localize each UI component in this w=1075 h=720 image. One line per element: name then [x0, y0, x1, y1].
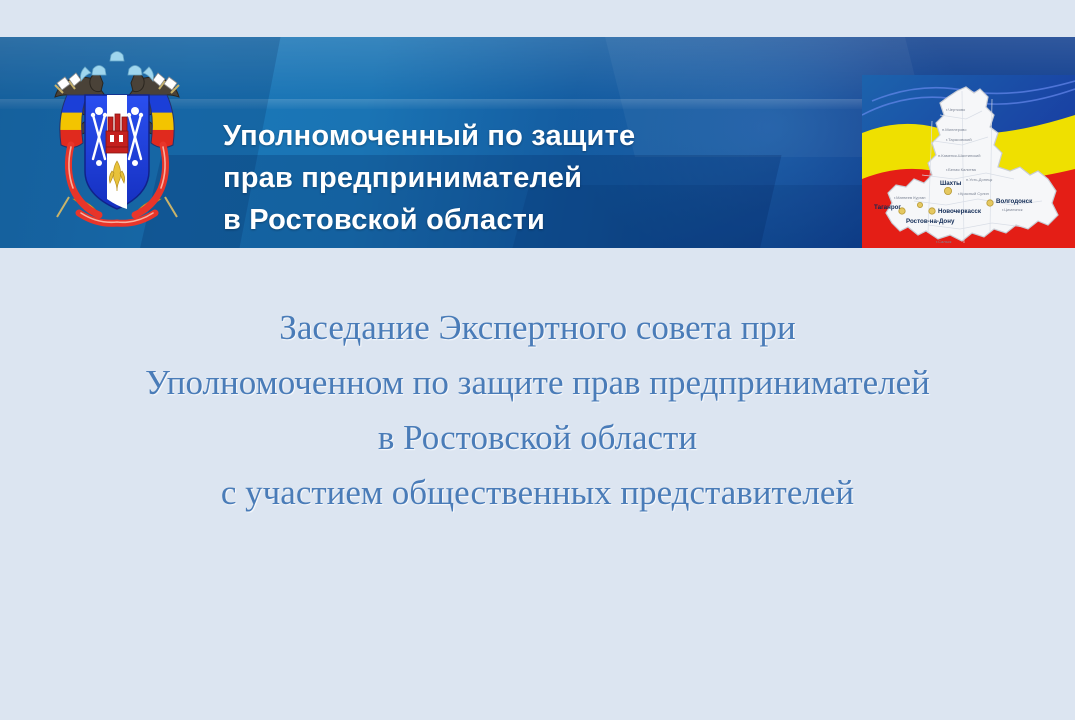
svg-text:г.Матвеев Курган: г.Матвеев Курган [894, 195, 926, 200]
header-banner: Уполномоченный по защите прав предприним… [0, 37, 1075, 248]
svg-text:г.Белая Калитва: г.Белая Калитва [946, 167, 977, 172]
svg-text:п.Усть-Донецк: п.Усть-Донецк [966, 177, 993, 182]
map-label-shahty: Шахты [940, 180, 961, 187]
title-line-3: в Ростовской области [0, 410, 1075, 465]
slide-title: Заседание Экспертного совета при Уполном… [0, 300, 1075, 520]
svg-text:г.Цимлянск: г.Цимлянск [1002, 207, 1023, 212]
svg-text:п.Каменск-Шахтинский: п.Каменск-Шахтинский [938, 153, 980, 158]
header-line-1: Уполномоченный по защите [223, 115, 863, 157]
title-line-1: Заседание Экспертного совета при [0, 300, 1075, 355]
svg-text:г.Сальск: г.Сальск [936, 239, 952, 244]
svg-text:г.Красный Сулин: г.Красный Сулин [958, 191, 989, 196]
header-title: Уполномоченный по защите прав предприним… [223, 115, 863, 241]
svg-text:г.Тарасовский: г.Тарасовский [946, 137, 972, 142]
header-line-3: в Ростовской области [223, 199, 863, 241]
region-map-icon: Шахты Таганрог Новочеркасск Ростов-на-До… [862, 75, 1075, 248]
map-label-novocherkassk: Новочеркасск [938, 208, 982, 215]
slide-root: Уполномоченный по защите прав предприним… [0, 0, 1075, 720]
title-line-4: с участием общественных представителей [0, 465, 1075, 520]
svg-text:г.Чертково: г.Чертково [946, 107, 966, 112]
map-label-taganrog: Таганрог [874, 204, 901, 211]
map-label-volgodonsk: Волгодонск [996, 198, 1033, 205]
title-line-2: Уполномоченном по защите прав предприним… [0, 355, 1075, 410]
coat-of-arms-icon [33, 49, 201, 239]
map-label-rostov: Ростов-на-Дону [906, 218, 955, 225]
svg-text:п.Миллерово: п.Миллерово [942, 127, 967, 132]
header-line-2: прав предпринимателей [223, 157, 863, 199]
